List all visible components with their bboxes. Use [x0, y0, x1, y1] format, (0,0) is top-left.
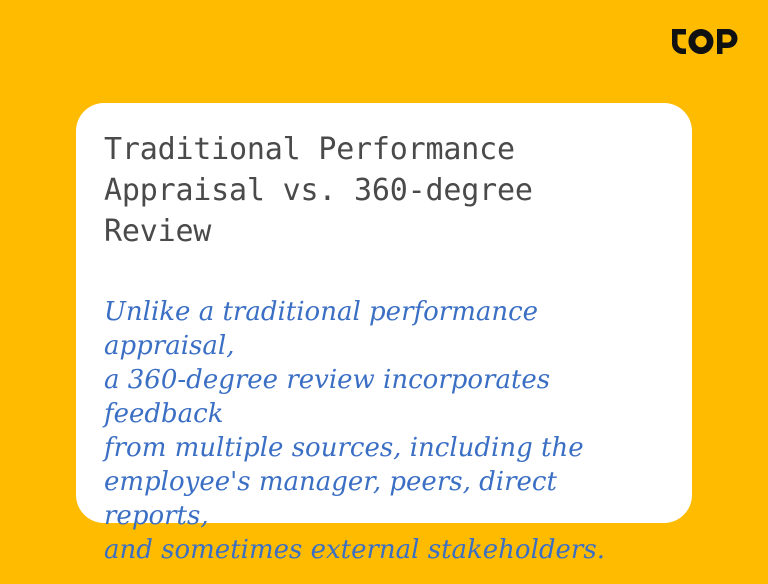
page-title: Traditional Performance Appraisal vs. 36… — [104, 129, 664, 252]
slide-canvas: Traditional Performance Appraisal vs. 36… — [0, 0, 768, 584]
jop-wordmark-logo[interactable] — [672, 29, 738, 54]
card-body-text: Unlike a traditional performance apprais… — [104, 295, 664, 567]
content-card: Traditional Performance Appraisal vs. 36… — [76, 103, 692, 523]
